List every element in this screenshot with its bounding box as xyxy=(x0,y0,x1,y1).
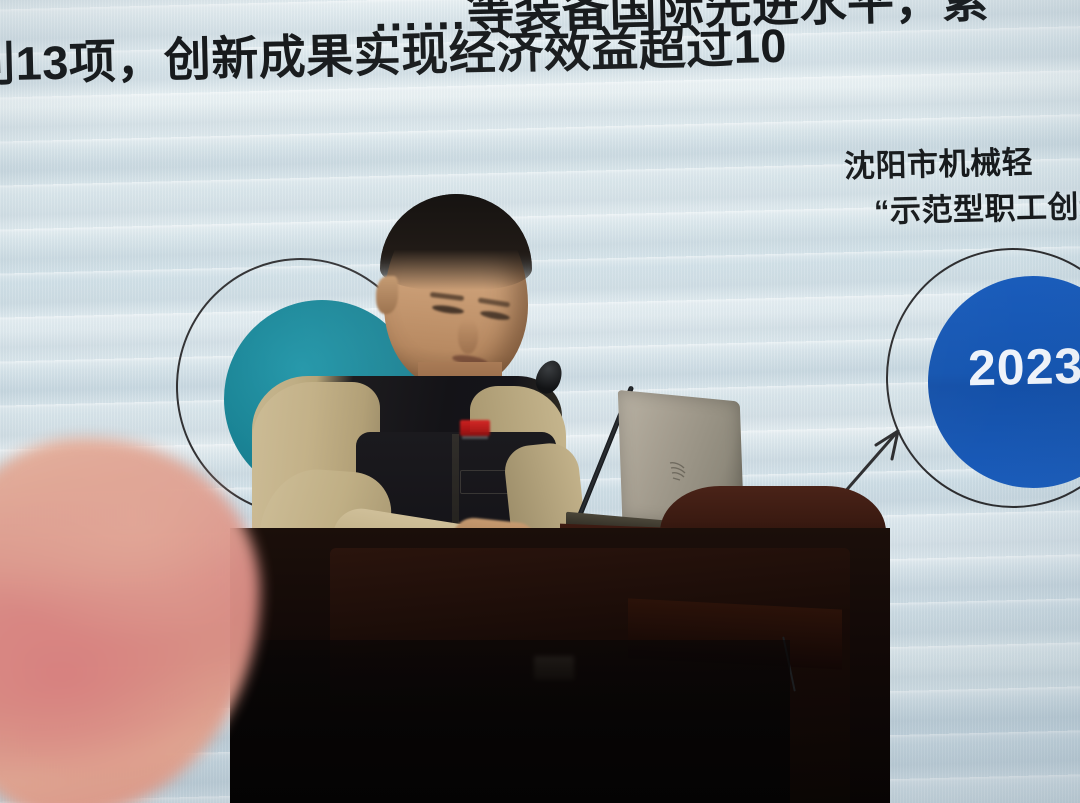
speaker-nose xyxy=(458,320,478,354)
hp-logo-icon xyxy=(668,460,688,482)
speaker-hair-overlay xyxy=(380,194,532,290)
podium-shadow-base xyxy=(230,640,790,803)
screenshot-canvas: 2023 ……等装备国际先进水平，累 利13项，创新成果实现经济效益超过10 沈… xyxy=(0,0,1080,803)
speaker-ear xyxy=(376,276,398,314)
jacket-company-logo xyxy=(460,420,490,436)
